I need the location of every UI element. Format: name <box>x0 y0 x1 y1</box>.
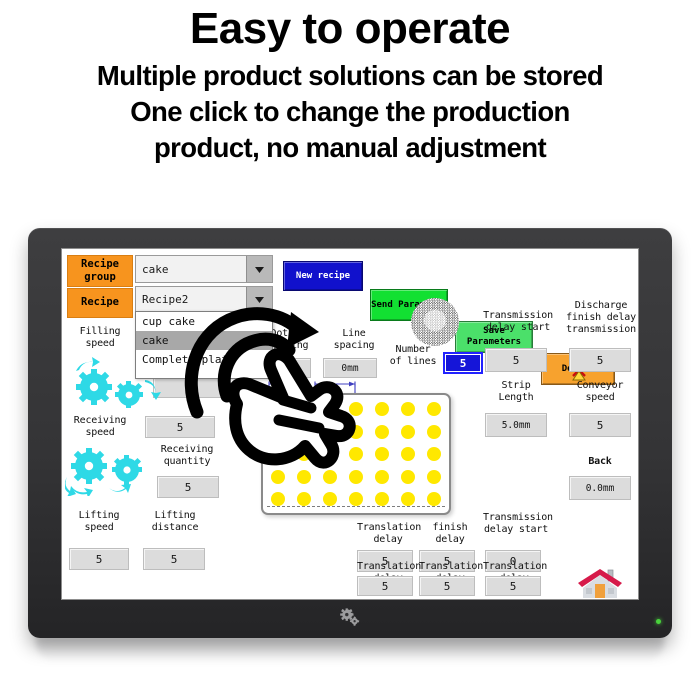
dot-cell <box>271 425 285 439</box>
receiving-speed-label: Receiving speed <box>64 415 136 439</box>
dot-cell <box>401 470 415 484</box>
dot-cell <box>349 492 363 506</box>
recipe-group-value: cake <box>136 263 246 276</box>
dot-cell <box>271 470 285 484</box>
dot-cell <box>427 402 441 416</box>
delay-value-r2-2[interactable]: 5 <box>485 576 541 596</box>
dot-row <box>271 402 441 416</box>
chevron-down-icon[interactable] <box>246 256 272 282</box>
transmission-delay-start-value[interactable]: 5 <box>485 348 547 372</box>
dot-cell <box>349 447 363 461</box>
lifting-distance-value[interactable]: 5 <box>143 548 205 570</box>
power-led <box>656 619 661 624</box>
recipe-value: Recipe2 <box>136 293 246 306</box>
filling-speed-label: Filling speed <box>67 326 133 350</box>
chevron-down-icon-2[interactable] <box>246 287 272 311</box>
lifting-speed-label: Lifting speed <box>67 510 131 534</box>
dot-cell <box>375 425 389 439</box>
dot-cell <box>427 425 441 439</box>
conveyor-speed-value[interactable]: 5 <box>569 413 631 437</box>
dropdown-option-1[interactable]: cake <box>136 331 272 350</box>
delay-value-r2-0[interactable]: 5 <box>357 576 413 596</box>
dot-cell <box>375 402 389 416</box>
conveyor-speed-label: Conveyor speed <box>567 380 633 404</box>
monitor-shadow <box>36 636 664 662</box>
recipe-label: Recipe <box>67 288 133 318</box>
recipe-group-label: Recipe group <box>67 255 133 287</box>
number-of-lines-value[interactable]: 5 <box>443 352 483 374</box>
dot-cell <box>401 492 415 506</box>
dot-row <box>271 492 441 506</box>
recipe-group-combo[interactable]: cake <box>135 255 273 283</box>
lifting-speed-value[interactable]: 5 <box>69 548 129 570</box>
dot-cell <box>297 447 311 461</box>
dot-cell <box>323 425 337 439</box>
lifting-distance-label: Lifting distance <box>139 510 211 534</box>
dot-cell <box>349 425 363 439</box>
line-spacing-value[interactable]: 0mm <box>323 358 377 378</box>
dot-cell <box>375 492 389 506</box>
gears-icon <box>333 607 367 629</box>
dot-cell <box>401 425 415 439</box>
new-recipe-button[interactable]: New recipe <box>283 261 363 291</box>
dot-cell <box>427 447 441 461</box>
dot-cell <box>427 470 441 484</box>
delay-label-r1-1: finish delay <box>419 522 481 546</box>
dot-cell <box>271 447 285 461</box>
receiving-quantity-value[interactable]: 5 <box>157 476 219 498</box>
back-value[interactable]: 0.0mm <box>569 476 631 500</box>
pattern-preview-icon <box>411 298 459 346</box>
delay-label-r1-0: Translation delay <box>357 522 419 546</box>
hmi-screen: Recipe group Recipe cake Recipe2 cup cak… <box>61 248 639 600</box>
filling-speed-value[interactable]: 5 <box>153 376 223 398</box>
receiving-gears-icon <box>65 440 157 496</box>
receiving-speed-value[interactable]: 5 <box>145 416 215 438</box>
back-label: Back <box>569 456 631 468</box>
headline-sub-2: One click to change the production <box>0 94 700 130</box>
strip-length-label: Strip Length <box>485 380 547 404</box>
dot-cell <box>323 402 337 416</box>
discharge-finish-value[interactable]: 5 <box>569 348 631 372</box>
dot-cell <box>375 470 389 484</box>
dot-cell <box>271 402 285 416</box>
recipe-dropdown-list[interactable]: cup cake cake Complete plate <box>135 311 273 379</box>
discharge-finish-label: Discharge finish delay transmission <box>561 300 639 337</box>
dropdown-option-2[interactable]: Complete plate <box>136 350 272 369</box>
dot-cell <box>401 402 415 416</box>
dot-baseline <box>267 506 445 507</box>
dot-cell <box>323 492 337 506</box>
recipe-combo[interactable]: Recipe2 <box>135 286 273 312</box>
dot-row <box>271 425 441 439</box>
dot-cell <box>375 447 389 461</box>
dot-cell <box>401 447 415 461</box>
dot-row <box>271 447 441 461</box>
dropdown-option-0[interactable]: cup cake <box>136 312 272 331</box>
spacing-arrows-icon <box>267 380 371 394</box>
home-icon[interactable] <box>577 566 623 600</box>
hmi-monitor: Recipe group Recipe cake Recipe2 cup cak… <box>28 228 672 638</box>
headline-title: Easy to operate <box>0 6 700 52</box>
dot-cell <box>323 447 337 461</box>
dot-cell <box>297 470 311 484</box>
dot-cell <box>297 425 311 439</box>
dot-cell <box>297 492 311 506</box>
dot-pattern-preview[interactable] <box>261 393 451 515</box>
dot-cell <box>427 492 441 506</box>
strip-length-value[interactable]: 5.0mm <box>485 413 547 437</box>
delay-label-r1-2: Transmission delay start <box>483 512 549 536</box>
dot-row <box>271 470 441 484</box>
dot-cell <box>349 402 363 416</box>
delay-value-r2-1[interactable]: 5 <box>419 576 475 596</box>
headline-sub-3: product, no manual adjustment <box>0 130 700 166</box>
dot-cell <box>297 402 311 416</box>
receiving-quantity-label: Receiving quantity <box>149 444 225 468</box>
line-spacing-label: Line spacing <box>323 328 385 352</box>
transmission-delay-start-label: Transmission delay start <box>475 310 561 334</box>
number-of-lines-label: Number of lines <box>387 344 439 368</box>
headline-sub-1: Multiple product solutions can be stored <box>0 58 700 94</box>
dot-cell <box>271 492 285 506</box>
headline-block: Easy to operate Multiple product solutio… <box>0 0 700 165</box>
dot-cell <box>349 470 363 484</box>
dot-cell <box>323 470 337 484</box>
